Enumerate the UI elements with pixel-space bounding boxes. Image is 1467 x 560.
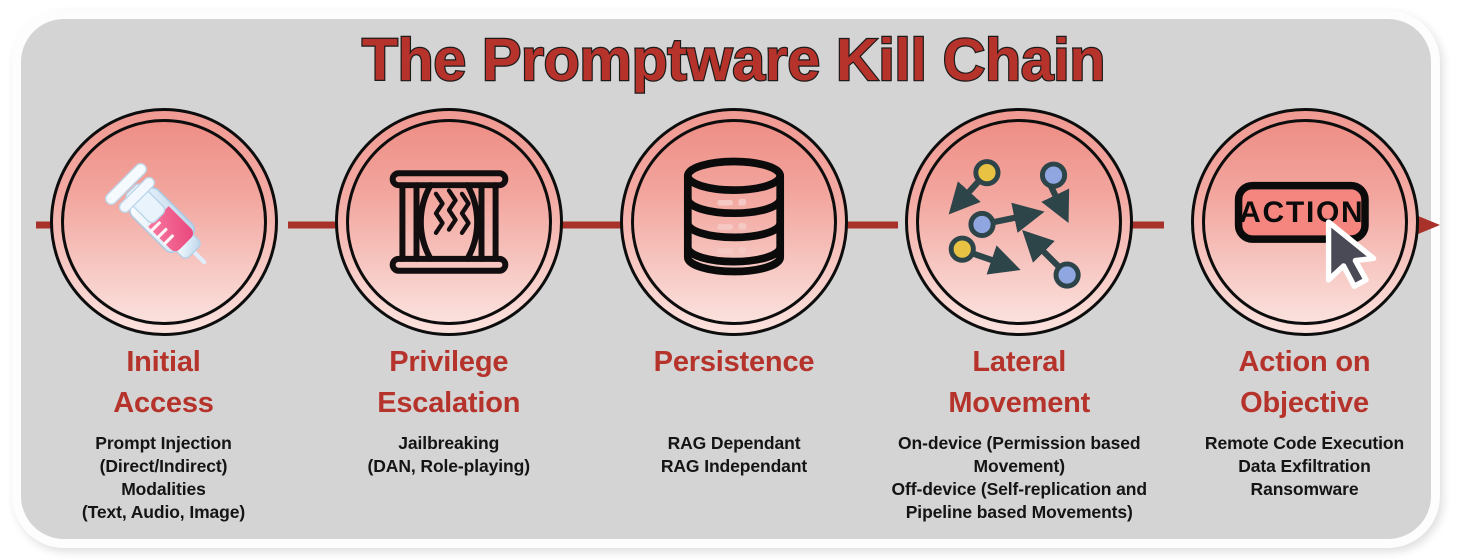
heading-line: Access: [113, 383, 213, 424]
stage-body-privilege-escalation: Jailbreaking (DAN, Role-playing): [368, 432, 530, 478]
jail-bars-icon: [374, 147, 524, 297]
stage-circle-action-on-objective: ACTION: [1191, 108, 1419, 336]
body-line: Data Exfiltration: [1205, 455, 1404, 478]
stage-heading-initial-access: Initial Access: [113, 342, 213, 424]
body-line: On-device (Permission based Movement): [878, 432, 1161, 478]
stage-body-persistence: RAG Dependant RAG Independant: [661, 432, 807, 478]
stage-body-action-on-objective: Remote Code Execution Data Exfiltration …: [1205, 432, 1404, 500]
body-line: (DAN, Role-playing): [368, 455, 530, 478]
body-line: RAG Dependant: [661, 432, 807, 455]
body-line: Ransomware: [1205, 478, 1404, 501]
heading-line: Movement: [948, 383, 1090, 424]
circle-inner-ring: [346, 119, 552, 325]
heading-line: Initial: [113, 342, 213, 383]
stage-heading-persistence: Persistence: [654, 342, 815, 383]
heading-line: Privilege: [377, 342, 520, 383]
body-line: Off-device (Self-replication and Pipelin…: [878, 478, 1161, 524]
stage-circle-initial-access: [50, 108, 278, 336]
heading-line: Action on: [1239, 342, 1371, 383]
body-line: Prompt Injection: [82, 432, 245, 455]
stage-circle-privilege-escalation: [335, 108, 563, 336]
stage-body-initial-access: Prompt Injection (Direct/Indirect) Modal…: [82, 432, 245, 523]
body-line: RAG Independant: [661, 455, 807, 478]
stage-action-on-objective[interactable]: ACTION Action on Objective Remote Code E…: [1163, 108, 1446, 501]
body-line: Remote Code Execution: [1205, 432, 1404, 455]
page-title: The Promptware Kill Chain: [0, 26, 1467, 94]
circle-inner-ring: [916, 119, 1122, 325]
heading-line: Lateral: [948, 342, 1090, 383]
stage-list: Initial Access Prompt Injection (Direct/…: [22, 108, 1446, 538]
circle-inner-ring: ACTION: [1202, 119, 1408, 325]
stage-circle-lateral-movement: [905, 108, 1133, 336]
stage-heading-privilege-escalation: Privilege Escalation: [377, 342, 520, 424]
syringe-icon: [89, 147, 239, 297]
svg-text:ACTION: ACTION: [1239, 196, 1364, 229]
heading-line: Escalation: [377, 383, 520, 424]
database-icon: [659, 147, 809, 297]
body-line: (Direct/Indirect): [82, 455, 245, 478]
stage-persistence[interactable]: Persistence RAG Dependant RAG Independan…: [593, 108, 876, 478]
body-line: Modalities: [82, 478, 245, 501]
infographic-root: The Promptware Kill Chain: [0, 0, 1467, 560]
stage-lateral-movement[interactable]: Lateral Movement On-device (Permission b…: [878, 108, 1161, 523]
stage-privilege-escalation[interactable]: Privilege Escalation Jailbreaking (DAN, …: [307, 108, 590, 478]
body-line: Jailbreaking: [368, 432, 530, 455]
circle-inner-ring: [61, 119, 267, 325]
stage-initial-access[interactable]: Initial Access Prompt Injection (Direct/…: [22, 108, 305, 523]
heading-line: Persistence: [654, 342, 815, 383]
stage-heading-lateral-movement: Lateral Movement: [948, 342, 1090, 424]
body-line: (Text, Audio, Image): [82, 501, 245, 524]
action-button-cursor-icon: ACTION: [1230, 147, 1380, 297]
lateral-movement-icon: [944, 147, 1094, 297]
stage-heading-action-on-objective: Action on Objective: [1239, 342, 1371, 424]
stage-body-lateral-movement: On-device (Permission based Movement) Of…: [878, 432, 1161, 523]
stage-circle-persistence: [620, 108, 848, 336]
circle-inner-ring: [631, 119, 837, 325]
heading-line: Objective: [1239, 383, 1371, 424]
